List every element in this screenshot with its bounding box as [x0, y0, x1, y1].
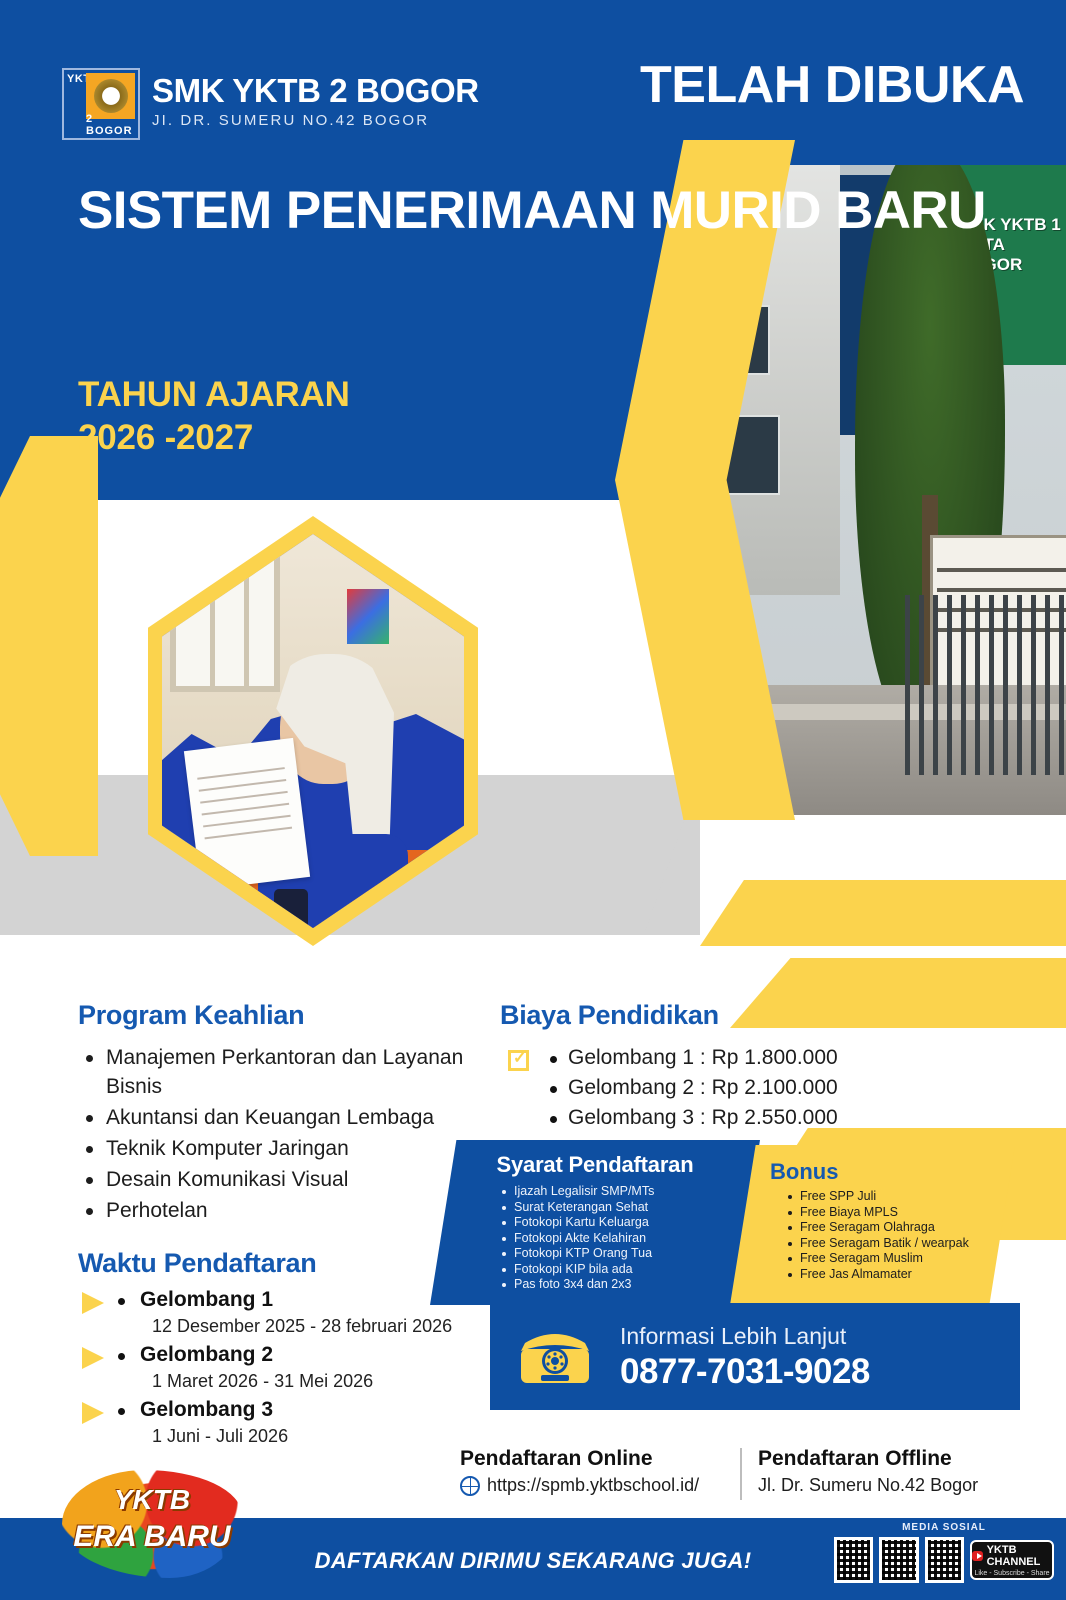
list-item: Free Seragam Muslim [788, 1251, 1015, 1267]
list-item: Desain Komunikasi Visual [78, 1165, 478, 1194]
contact-phone-number[interactable]: 0877-7031-9028 [620, 1351, 870, 1393]
academic-year-label: TAHUN AJARAN [78, 375, 350, 415]
list-item: Ijazah Legalisir SMP/MTs [502, 1184, 760, 1200]
wave-label: Gelombang 2 [140, 1342, 478, 1368]
list-item: Akuntansi dan Keuangan Lembaga [78, 1103, 478, 1132]
youtube-play-icon [972, 1551, 983, 1561]
biaya-title: Biaya Pendidikan [500, 1000, 920, 1031]
list-item: Manajemen Perkantoran dan Layanan Bisnis [78, 1043, 478, 1101]
wave-date: 1 Maret 2026 - 31 Mei 2026 [140, 1368, 478, 1394]
wave-label: Gelombang 1 [140, 1287, 478, 1313]
academic-year-value: 2026 -2027 [78, 418, 253, 458]
era-baru-logo: YKTB ERA BARU [62, 1470, 242, 1578]
list-item: Fotokopi KTP Orang Tua [502, 1246, 760, 1262]
poster-main-title: SISTEM PENERIMAAN MURID BARU [78, 180, 986, 242]
wave-date: 12 Desember 2025 - 28 februari 2026 [140, 1313, 478, 1339]
waktu-title: Waktu Pendaftaran [78, 1248, 478, 1279]
school-logo: YKTB 2 BOGOR [62, 68, 140, 140]
online-url-row[interactable]: https://spmb.yktbschool.id/ [460, 1472, 722, 1499]
triangle-bullet-icon [82, 1347, 104, 1369]
qr-code-icon[interactable] [834, 1537, 873, 1583]
list-item: Free Seragam Batik / wearpak [788, 1236, 1015, 1252]
list-item: Fotokopi Akte Kelahiran [502, 1231, 760, 1247]
bonus-title: Bonus [730, 1145, 1015, 1185]
waktu-list: Gelombang 1 12 Desember 2025 - 28 februa… [78, 1287, 478, 1449]
registration-methods: Pendaftaran Online https://spmb.yktbscho… [440, 1445, 1020, 1505]
program-section: Program Keahlian Manajemen Perkantoran d… [78, 1000, 478, 1227]
photo-fence [905, 595, 1066, 775]
tuition-section: Biaya Pendidikan Gelombang 1 : Rp 1.800.… [500, 1000, 920, 1133]
list-item: Perhotelan [78, 1196, 478, 1225]
list-item: Gelombang 1 12 Desember 2025 - 28 februa… [78, 1287, 478, 1339]
youtube-title: YKTB CHANNEL [987, 1544, 1052, 1568]
list-item: Free Biaya MPLS [788, 1205, 1015, 1221]
biaya-list: Gelombang 1 : Rp 1.800.000 Gelombang 2 :… [500, 1043, 920, 1133]
era-baru-line2: ERA BARU [62, 1520, 242, 1554]
yellow-left-wedge-decor [0, 436, 98, 856]
telephone-icon [490, 1321, 620, 1393]
list-item: Gelombang 2 1 Maret 2026 - 31 Mei 2026 [78, 1342, 478, 1394]
online-url[interactable]: https://spmb.yktbschool.id/ [487, 1472, 699, 1499]
registration-schedule-section: Waktu Pendaftaran Gelombang 1 12 Desembe… [78, 1248, 478, 1452]
list-item: Free SPP Juli [788, 1189, 1015, 1205]
wave-label: Gelombang 3 [140, 1397, 478, 1423]
offline-address: Jl. Dr. Sumeru No.42 Bogor [758, 1472, 1020, 1499]
logo-bottom-text: 2 BOGOR [86, 115, 135, 135]
list-item: Gelombang 3 1 Juni - Juli 2026 [78, 1397, 478, 1449]
list-item: Free Jas Almamater [788, 1267, 1015, 1283]
online-title: Pendaftaran Online [460, 1445, 722, 1472]
era-baru-line1: YKTB [62, 1484, 242, 1516]
divider [740, 1448, 742, 1500]
bonus-list: Free SPP Juli Free Biaya MPLS Free Serag… [730, 1189, 1015, 1282]
syarat-title: Syarat Pendaftaran [430, 1140, 760, 1178]
program-list: Manajemen Perkantoran dan Layanan Bisnis… [78, 1043, 478, 1225]
qr-code-icon[interactable] [879, 1537, 918, 1583]
school-name: SMK YKTB 2 BOGOR [152, 72, 479, 110]
list-item: Pas foto 3x4 dan 2x3 [502, 1277, 760, 1293]
youtube-subtitle: Like - Subscribe - Share [974, 1570, 1049, 1577]
poster-root: SMK YKTB 1 KOTA BOGOR [0, 0, 1066, 1600]
contact-bar[interactable]: Informasi Lebih Lanjut 0877-7031-9028 [490, 1303, 1020, 1410]
registration-offline: Pendaftaran Offline Jl. Dr. Sumeru No.42… [722, 1445, 1020, 1505]
list-item: Gelombang 2 : Rp 2.100.000 [548, 1073, 920, 1103]
requirements-box: Syarat Pendaftaran Ijazah Legalisir SMP/… [430, 1140, 760, 1305]
yellow-stripe-decor-1 [700, 880, 1066, 946]
list-item: Fotokopi KIP bila ada [502, 1262, 760, 1278]
media-sosial-label: MEDIA SOSIAL [834, 1522, 1054, 1533]
qr-code-icon[interactable] [925, 1537, 964, 1583]
syarat-list: Ijazah Legalisir SMP/MTs Surat Keteranga… [430, 1184, 760, 1293]
registration-online: Pendaftaran Online https://spmb.yktbscho… [440, 1445, 722, 1505]
triangle-bullet-icon [82, 1402, 104, 1424]
logo-vertical-text: YKTB [67, 73, 85, 135]
checkbox-icon [508, 1050, 529, 1071]
contact-info-label: Informasi Lebih Lanjut [620, 1321, 870, 1351]
social-media-section: MEDIA SOSIAL YKTB CHANNEL Like - Subscri… [834, 1522, 1054, 1583]
globe-icon [460, 1476, 480, 1496]
bonus-box: Bonus Free SPP Juli Free Biaya MPLS Free… [730, 1145, 1015, 1305]
youtube-channel-button[interactable]: YKTB CHANNEL Like - Subscribe - Share [970, 1540, 1054, 1580]
classroom-photo [162, 534, 464, 928]
school-address: JI. DR. SUMERU NO.42 BOGOR [152, 112, 429, 129]
dot-bullet-icon [118, 1408, 125, 1415]
triangle-bullet-icon [82, 1292, 104, 1314]
program-title: Program Keahlian [78, 1000, 478, 1031]
wave-date: 1 Juni - Juli 2026 [140, 1423, 478, 1449]
list-item: Surat Keterangan Sehat [502, 1200, 760, 1216]
list-item: Free Seragam Olahraga [788, 1220, 1015, 1236]
dot-bullet-icon [118, 1298, 125, 1305]
offline-title: Pendaftaran Offline [758, 1445, 1020, 1472]
announcement-banner: TELAH DIBUKA [640, 55, 1024, 115]
list-item: Fotokopi Kartu Keluarga [502, 1215, 760, 1231]
list-item: Gelombang 1 : Rp 1.800.000 [548, 1043, 920, 1073]
list-item: Teknik Komputer Jaringan [78, 1134, 478, 1163]
dot-bullet-icon [118, 1353, 125, 1360]
list-item: Gelombang 3 : Rp 2.550.000 [548, 1103, 920, 1133]
